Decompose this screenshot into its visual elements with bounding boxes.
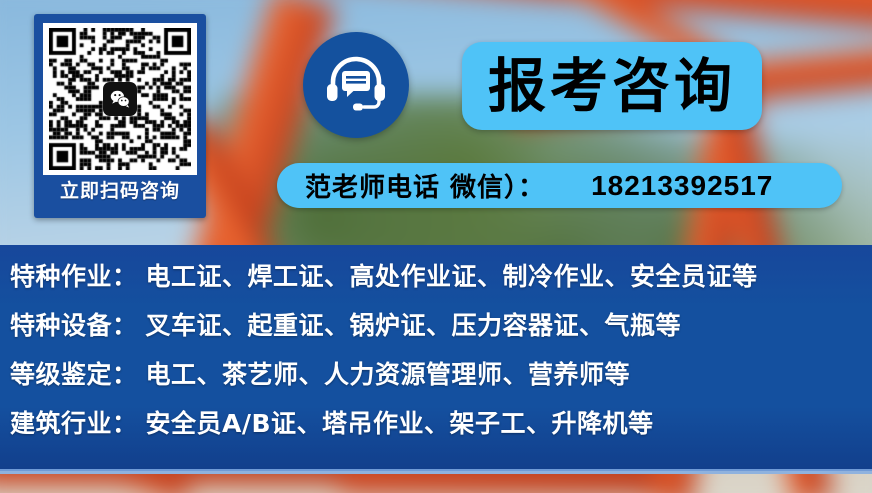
wechat-icon [103,82,137,116]
category-value: 叉车证、起重证、锅炉证、压力容器证、气瓶等 [146,306,682,342]
certificate-categories-panel: 特种作业： 电工证、焊工证、高处作业证、制冷作业、安全员证等 特种设备： 叉车证… [0,245,872,471]
contact-phone-bar[interactable]: 范老师电话 微信）： 18213392517 [277,163,842,208]
category-row-special-operations: 特种作业： 电工证、焊工证、高处作业证、制冷作业、安全员证等 [0,257,872,306]
title-badge: 报考咨询 [462,42,762,130]
qr-code-card[interactable]: 立即扫码咨询 [34,14,206,218]
category-label: 等级鉴定： [10,355,138,391]
contact-label: 范老师电话 微信）： [305,167,545,204]
panel-bottom-edge [0,471,872,474]
headset-support-icon [303,32,409,138]
category-value: 安全员A/B证、塔吊作业、架子工、升降机等 [146,404,654,440]
page-title: 报考咨询 [488,57,736,115]
category-label: 特种设备： [10,306,138,342]
promo-poster: 立即扫码咨询 报考咨询 范老师电话 微信）： 18213392517 特种作业：… [0,0,872,493]
category-label: 建筑行业： [10,404,138,440]
qr-code-image[interactable] [43,23,197,175]
category-label: 特种作业： [10,257,138,293]
category-row-grade-assessment: 等级鉴定： 电工、茶艺师、人力资源管理师、营养师等 [0,355,872,404]
contact-number[interactable]: 18213392517 [591,170,773,202]
qr-caption: 立即扫码咨询 [60,182,180,201]
category-value: 电工证、焊工证、高处作业证、制冷作业、安全员证等 [146,257,758,293]
category-value: 电工、茶艺师、人力资源管理师、营养师等 [146,355,631,391]
category-row-construction-industry: 建筑行业： 安全员A/B证、塔吊作业、架子工、升降机等 [0,404,872,453]
category-row-special-equipment: 特种设备： 叉车证、起重证、锅炉证、压力容器证、气瓶等 [0,306,872,355]
